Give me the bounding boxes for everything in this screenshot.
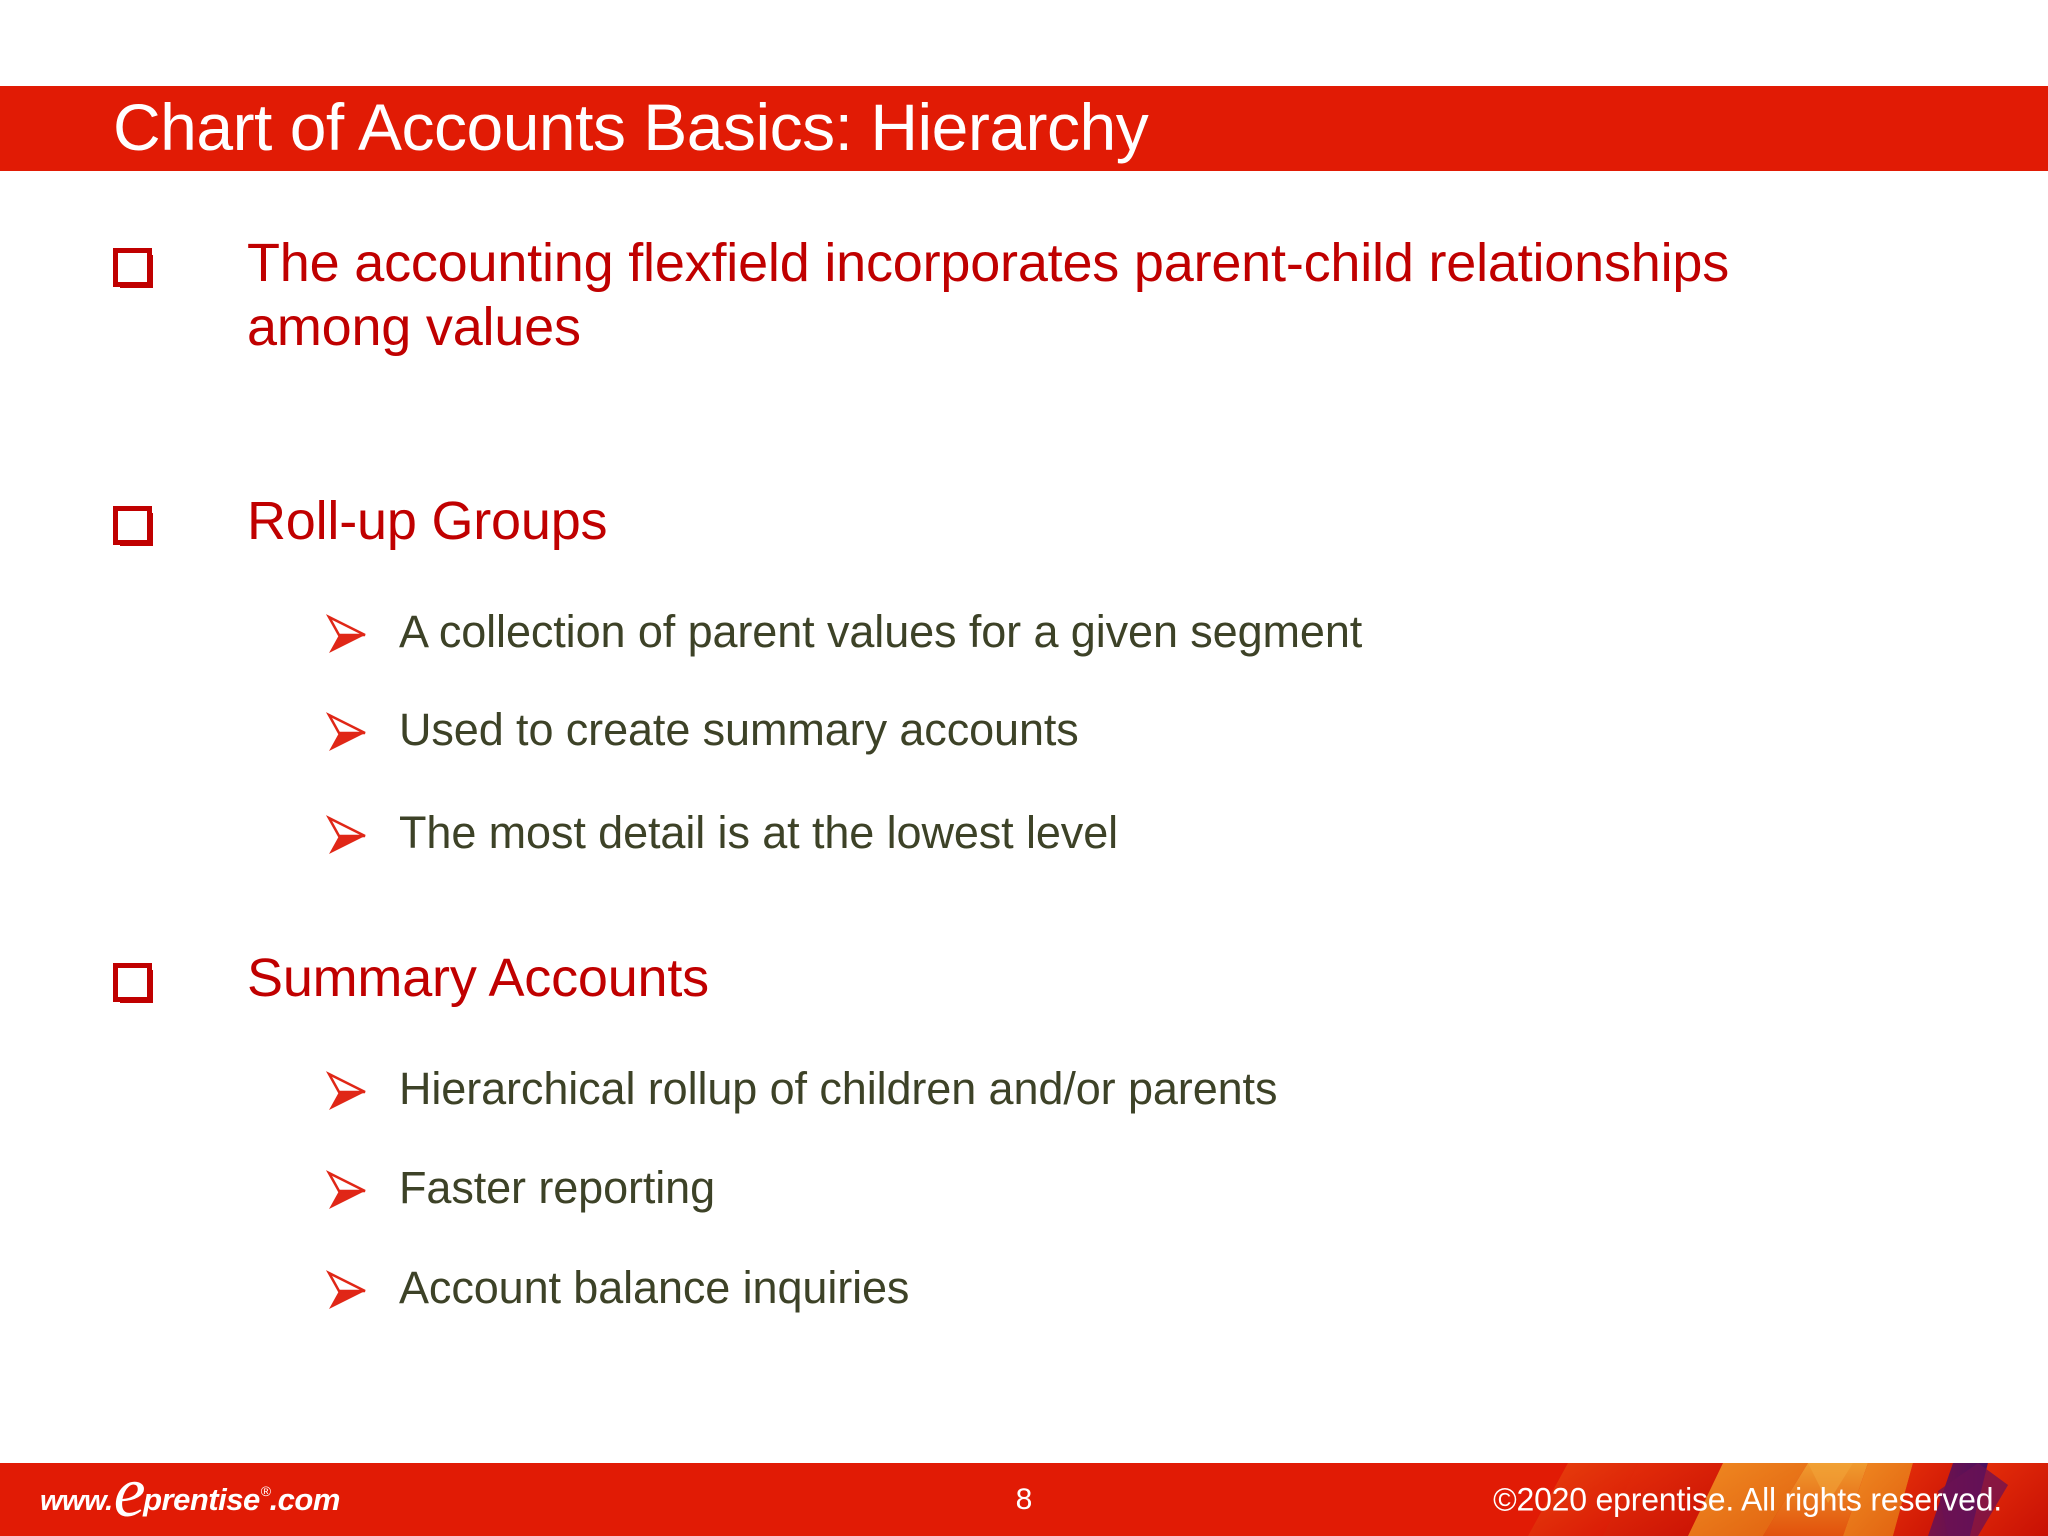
page-title: Chart of Accounts Basics: Hierarchy [113,94,1148,160]
sub-bullet-label: Account balance inquiries [399,1261,909,1315]
arrow-bullet-icon [325,613,369,657]
bullet-block-2: Roll-up Groups [113,490,1813,554]
bullet-heading: Roll-up Groups [247,490,607,554]
sub-bullet-3-1: Hierarchical rollup of children and/or p… [325,1062,1277,1116]
sub-bullet-label: Faster reporting [399,1161,715,1215]
sub-bullet-3-2: Faster reporting [325,1161,715,1215]
square-bullet-icon [113,248,153,288]
square-bullet-icon [113,963,153,1003]
bullet-block-3: Summary Accounts [113,947,1813,1011]
slide-footer: www.eprentise®.com 8 ©2020 eprentise. Al… [0,1463,2048,1536]
arrow-bullet-icon [325,711,369,755]
sub-bullet-label: Used to create summary accounts [399,703,1079,757]
bullet-block-1: The accounting flexfield incorporates pa… [113,232,1813,359]
sub-bullet-label: A collection of parent values for a give… [399,605,1362,659]
arrow-bullet-icon [325,1070,369,1114]
sub-bullet-2-3: The most detail is at the lowest level [325,806,1118,860]
slide-root: Chart of Accounts Basics: Hierarchy The … [0,0,2048,1536]
slide-body: The accounting flexfield incorporates pa… [0,190,2048,1420]
bullet-heading: Summary Accounts [247,947,709,1011]
arrow-bullet-icon [325,1269,369,1313]
sub-bullet-label: The most detail is at the lowest level [399,806,1118,860]
arrow-bullet-icon [325,1169,369,1213]
sub-bullet-3-3: Account balance inquiries [325,1261,909,1315]
arrow-bullet-icon [325,814,369,858]
slide-title-bar: Chart of Accounts Basics: Hierarchy [0,86,2048,171]
copyright-notice: ©2020 eprentise. All rights reserved. [1493,1481,2002,1518]
sub-bullet-2-2: Used to create summary accounts [325,703,1079,757]
sub-bullet-label: Hierarchical rollup of children and/or p… [399,1062,1277,1116]
sub-bullet-2-1: A collection of parent values for a give… [325,605,1362,659]
square-bullet-icon [113,506,153,546]
bullet-heading: The accounting flexfield incorporates pa… [247,232,1747,359]
